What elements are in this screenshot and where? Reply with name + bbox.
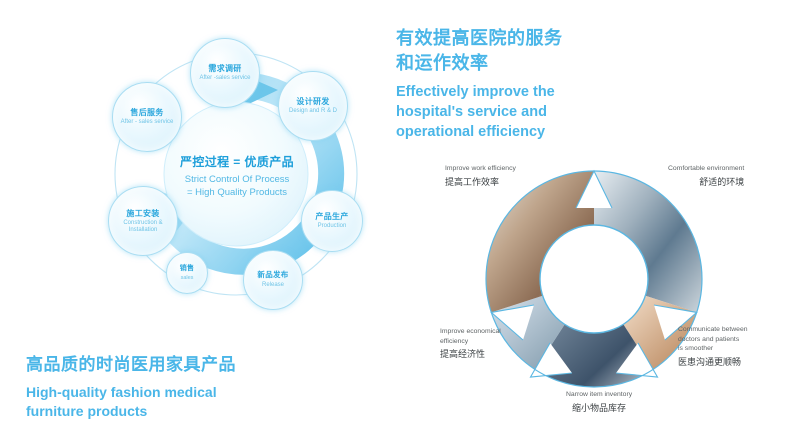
cycle-node-design-cn: 设计研发 bbox=[296, 97, 329, 106]
cycle-node-installation-cn: 施工安装 bbox=[126, 209, 159, 218]
cycle-node-production[interactable]: 产品生产 Production bbox=[301, 190, 363, 252]
donut-graphics bbox=[483, 168, 705, 390]
cycle-center-en: Strict Control Of Process = High Quality… bbox=[185, 173, 290, 199]
benefits-donut-diagram bbox=[483, 168, 705, 390]
donut-photo-ring bbox=[486, 171, 702, 390]
cycle-center-cn: 严控过程 = 优质产品 bbox=[180, 153, 294, 170]
donut-label-communicate-en: Communicate between doctors and patients… bbox=[678, 325, 748, 354]
heading-hospital-en: Effectively improve the hospital's servi… bbox=[396, 82, 563, 142]
cycle-node-installation-en: Construction & Installation bbox=[109, 220, 177, 234]
cycle-node-installation[interactable]: 施工安装 Construction & Installation bbox=[108, 186, 178, 256]
heading-furniture-cn: 高品质的时尚医用家具产品 bbox=[26, 352, 236, 377]
donut-label-communicate: Communicate between doctors and patients… bbox=[678, 325, 748, 368]
donut-label-comfort-cn: 舒适的环境 bbox=[668, 176, 744, 188]
cycle-node-after-sales-en: After - sales service bbox=[121, 119, 174, 126]
cycle-node-design[interactable]: 设计研发 Design and R & D bbox=[278, 71, 348, 141]
heading-furniture-products: 高品质的时尚医用家具产品 High-quality fashion medica… bbox=[26, 352, 236, 421]
cycle-node-release-en: Release bbox=[262, 282, 284, 289]
donut-label-work-efficiency-en: Improve work efficiency bbox=[445, 164, 516, 174]
donut-label-economical: Improve economical efficiency 提高经济性 bbox=[440, 327, 501, 360]
cycle-node-demand-en: After -sales service bbox=[199, 75, 250, 82]
donut-label-inventory-en: Narrow item inventory bbox=[566, 390, 632, 400]
donut-label-work-efficiency-cn: 提高工作效率 bbox=[445, 176, 516, 188]
slide-canvas: 有效提高医院的服务 和运作效率 Effectively improve the … bbox=[0, 0, 786, 443]
cycle-node-release[interactable]: 新品发布 Release bbox=[243, 250, 303, 310]
donut-label-economical-en: Improve economical efficiency bbox=[440, 327, 501, 346]
cycle-node-production-en: Production bbox=[318, 223, 347, 230]
donut-label-work-efficiency: Improve work efficiency 提高工作效率 bbox=[445, 164, 516, 188]
donut-label-inventory-cn: 缩小物品库存 bbox=[566, 402, 632, 414]
cycle-node-after-sales-cn: 售后服务 bbox=[130, 108, 163, 117]
cycle-node-after-sales[interactable]: 售后服务 After - sales service bbox=[112, 82, 182, 152]
heading-furniture-en: High-quality fashion medical furniture p… bbox=[26, 383, 236, 421]
donut-label-economical-cn: 提高经济性 bbox=[440, 348, 501, 360]
process-cycle-diagram: 严控过程 = 优质产品 Strict Control Of Process = … bbox=[108, 38, 388, 323]
cycle-center-statement: 严控过程 = 优质产品 Strict Control Of Process = … bbox=[170, 116, 304, 236]
cycle-node-sales-en: sales bbox=[181, 275, 194, 281]
cycle-node-demand[interactable]: 需求调研 After -sales service bbox=[190, 38, 260, 108]
donut-label-communicate-cn: 医患沟通更顺畅 bbox=[678, 356, 748, 368]
donut-label-comfort-en: Comfortable environment bbox=[668, 164, 744, 174]
cycle-node-release-cn: 新品发布 bbox=[257, 271, 288, 280]
cycle-node-sales-cn: 销售 bbox=[180, 265, 195, 273]
donut-label-comfort: Comfortable environment 舒适的环境 bbox=[668, 164, 744, 188]
cycle-node-demand-cn: 需求调研 bbox=[208, 64, 241, 73]
donut-label-inventory: Narrow item inventory 缩小物品库存 bbox=[566, 390, 632, 414]
cycle-node-design-en: Design and R & D bbox=[289, 108, 337, 115]
heading-hospital-cn: 有效提高医院的服务 和运作效率 bbox=[396, 26, 563, 76]
cycle-node-sales[interactable]: 销售 sales bbox=[166, 252, 208, 294]
cycle-node-production-cn: 产品生产 bbox=[315, 212, 348, 221]
heading-hospital-efficiency: 有效提高医院的服务 和运作效率 Effectively improve the … bbox=[396, 26, 563, 142]
